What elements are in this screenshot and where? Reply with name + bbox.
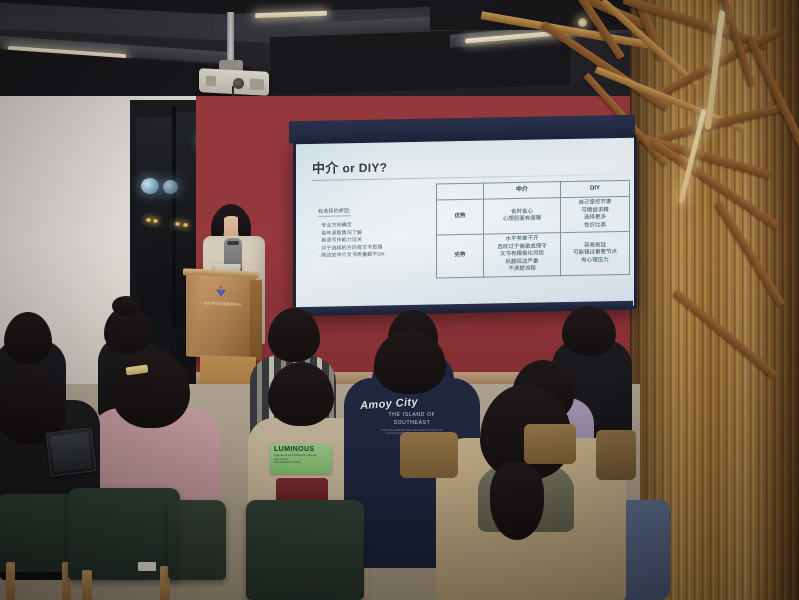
cell-agency-pros: 省时省心 心理层面有保障 [484, 198, 561, 234]
cell-diy-pros: 自己掌控节奏 可精益求精 选择更多 性价比高 [561, 196, 630, 232]
warm-light-3 [175, 222, 180, 226]
chair-7-backrest[interactable] [596, 430, 636, 480]
pendant-light-orb-1 [141, 178, 159, 194]
chair-3[interactable] [168, 500, 226, 580]
audience-head-4 [562, 306, 616, 356]
table-row: 劣势 水平参差不齐 选校过于偏激或保守 文书有模板化风险 机翻现边严重 不清楚流… [437, 231, 630, 277]
warm-light-2 [153, 219, 158, 223]
cell-line: 不清楚流程 [485, 265, 559, 274]
chair-1[interactable] [0, 494, 78, 572]
luminous-title: LUMINOUS [274, 446, 332, 453]
bullets-heading: 我选择的原因: [318, 207, 351, 217]
row-label-cons: 劣势 [437, 234, 484, 277]
cell-diy-cons: 容易拖延 可能错过重要节点 有心理压力 [561, 231, 630, 275]
bullet-item: 刚边的中介文书质量都不OK [318, 251, 436, 261]
tablet-screen[interactable] [50, 432, 92, 472]
amoy-line-1: THE ISLAND OF [344, 412, 480, 418]
tablet-device[interactable] [45, 427, 96, 476]
luminous-graphic-patch: LUMINOUS fragments with different cultur… [270, 444, 332, 474]
amoy-script-text: Amoy City [360, 392, 481, 412]
table-header-diy: DIY [561, 180, 630, 197]
chair-label-tag [138, 562, 156, 571]
glass-mullion [172, 106, 176, 326]
podium-emblem-icon [214, 284, 228, 299]
warm-light-4 [183, 223, 188, 227]
cell-line: 有心理压力 [562, 256, 628, 265]
comparison-table: 中介 DIY 优势 省时省心 心理层面有保障 自己掌控节奏 可精益求精 选择更多 [436, 180, 630, 278]
ceiling-spot-light [578, 18, 587, 27]
cell-line: 性价比高 [562, 221, 628, 230]
warm-light-1 [146, 218, 151, 222]
screen-surface: 中介 or DIY? 我选择的原因: 专业方向确定 每年录取情况了解 英语写作能… [296, 138, 634, 312]
pendant-light-orb-2 [163, 180, 178, 194]
amoy-line-2: SOUTHEAST [344, 420, 480, 426]
chair-leg [82, 570, 92, 600]
slide-title-latin: or DIY? [343, 160, 388, 175]
audience-ponytail [490, 462, 544, 540]
row-label-pros: 优势 [437, 199, 484, 235]
chair-6-backrest[interactable] [524, 424, 576, 464]
presentation-slide: 中介 or DIY? 我选择的原因: 专业方向确定 每年录取情况了解 英语写作能… [296, 138, 634, 312]
luminous-line: still brilliantly shines [274, 461, 332, 465]
projection-screen[interactable]: 中介 or DIY? 我选择的原因: 专业方向确定 每年录取情况了解 英语写作能… [293, 135, 637, 316]
branch-10 [659, 102, 787, 141]
slide-title: 中介 or DIY? [312, 152, 618, 177]
slide-title-cn: 中介 [312, 160, 339, 176]
speaker-necklace [227, 241, 239, 245]
audience-hair-bun-2 [112, 296, 140, 316]
cell-line: 心理层面有保障 [485, 215, 559, 224]
projector-vent-right [250, 79, 264, 91]
chair-4[interactable] [246, 500, 364, 600]
chair-5-backrest[interactable] [400, 432, 458, 478]
cell-agency-cons: 水平参差不齐 选校过于偏激或保守 文书有模板化风险 机翻现边严重 不清楚流程 [484, 233, 561, 277]
glass-pane-left [136, 118, 172, 318]
lecture-room-photo: 🚶 中介 o [0, 0, 799, 600]
projector-vent-left [206, 76, 216, 87]
slide-bullet-block: 我选择的原因: 专业方向确定 每年录取情况了解 英语写作能力过关 对于选择的方向… [318, 198, 436, 261]
table-header-agency: 中介 [484, 182, 561, 199]
branch-13 [746, 36, 799, 147]
audience-head-plaid [268, 308, 320, 362]
table-corner-cell [437, 183, 484, 200]
podium[interactable]: 一站式学生社区服务中心 [186, 274, 256, 359]
podium-side-panel [250, 280, 262, 361]
chair-leg [6, 562, 15, 600]
audience-head-1 [4, 312, 52, 364]
table-row: 优势 省时省心 心理层面有保障 自己掌控节奏 可精益求精 选择更多 性价比高 [437, 196, 630, 235]
